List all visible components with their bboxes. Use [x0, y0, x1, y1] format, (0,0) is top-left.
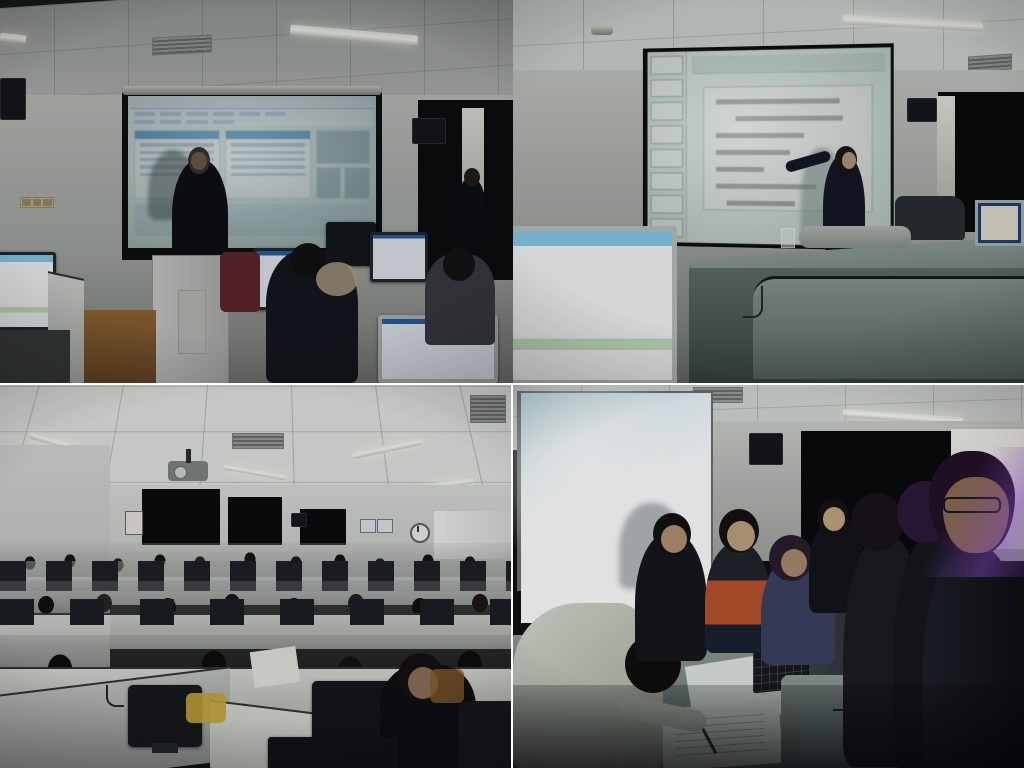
panel-exposure	[513, 0, 1024, 383]
panel-exposure	[513, 385, 1024, 768]
collage-panel-top-left: Male instructor standing in front of a p…	[0, 0, 513, 383]
photo-collage: Male instructor standing in front of a p…	[0, 0, 1024, 768]
panel-exposure	[0, 385, 513, 768]
collage-panel-bottom-right: Group of people gathered around a desk l…	[513, 385, 1024, 768]
collage-panel-bottom-left: Wide view of a full computer lab with ro…	[0, 385, 513, 768]
collage-panel-top-right: Female presenter pointing at a slide pro…	[513, 0, 1024, 383]
panel-exposure	[0, 0, 513, 383]
gutter-vertical-bottom	[511, 385, 513, 768]
